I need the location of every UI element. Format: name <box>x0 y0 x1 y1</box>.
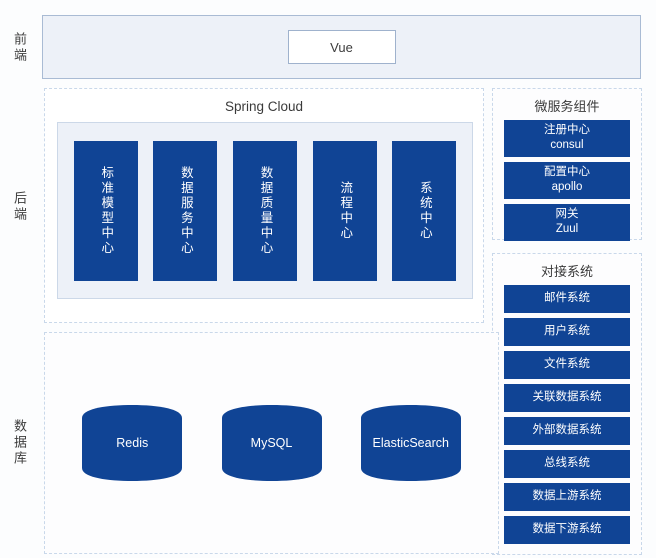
integration-chip-bus-label: 总线系统 <box>544 457 590 469</box>
microservice-components-panel: 微服务组件 注册中心 consul 配置中心 apollo 网关 Zuul <box>492 88 642 240</box>
integration-chip-upstream-label: 数据上游系统 <box>533 490 602 502</box>
integration-chip-file[interactable]: 文件系统 <box>504 351 630 379</box>
database-cylinder-elasticsearch[interactable]: ElasticSearch <box>359 404 463 482</box>
service-center-box[interactable]: 系统中心 <box>392 141 456 281</box>
microservice-chip-config-sub: apollo <box>504 180 630 195</box>
microservice-chip-gateway-sub: Zuul <box>504 222 630 237</box>
integration-chip-user-label: 用户系统 <box>544 325 590 337</box>
service-center-box[interactable]: 标准模型中心 <box>74 141 138 281</box>
service-center-label: 系统中心 <box>418 181 431 241</box>
microservice-chip-config[interactable]: 配置中心 apollo <box>504 162 630 199</box>
row-label-backend-text: 后端 <box>9 191 29 223</box>
microservice-chip-gateway-label: 网关 <box>556 208 579 220</box>
integration-chip-related-data-label: 关联数据系统 <box>533 391 602 403</box>
service-center-label: 数据服务中心 <box>179 166 192 256</box>
architecture-diagram: 前端 后端 数据库 Vue Spring Cloud 标准模型中心 数据服务中心… <box>0 0 656 558</box>
cylinder-shape-icon <box>359 404 463 482</box>
row-label-database: 数据库 <box>0 330 38 555</box>
microservice-components-title: 微服务组件 <box>493 89 641 120</box>
microservice-chip-gateway[interactable]: 网关 Zuul <box>504 204 630 241</box>
database-cylinder-mysql[interactable]: MySQL <box>220 404 324 482</box>
frontend-layer-panel: Vue <box>42 15 641 79</box>
spring-cloud-inner-panel: 标准模型中心 数据服务中心 数据质量中心 流程中心 系统中心 <box>57 122 473 299</box>
service-center-label: 流程中心 <box>338 181 351 241</box>
row-label-database-text: 数据库 <box>9 419 29 467</box>
row-label-frontend-text: 前端 <box>9 32 29 64</box>
cylinder-shape-icon <box>220 404 324 482</box>
row-label-frontend: 前端 <box>0 14 38 82</box>
integration-chip-upstream[interactable]: 数据上游系统 <box>504 483 630 511</box>
service-center-label: 数据质量中心 <box>258 166 271 256</box>
cylinder-shape-icon <box>80 404 184 482</box>
microservice-chip-registry-label: 注册中心 <box>544 124 590 136</box>
database-layer-panel: Redis MySQL ElasticSearch <box>44 332 499 554</box>
integration-chip-mail-label: 邮件系统 <box>544 292 590 304</box>
microservice-chip-config-label: 配置中心 <box>544 166 590 178</box>
database-cylinder-redis[interactable]: Redis <box>80 404 184 482</box>
integration-chip-related-data[interactable]: 关联数据系统 <box>504 384 630 412</box>
microservice-components-list: 注册中心 consul 配置中心 apollo 网关 Zuul <box>493 120 641 241</box>
service-center-box[interactable]: 数据服务中心 <box>153 141 217 281</box>
database-row: Redis MySQL ElasticSearch <box>45 333 498 553</box>
integration-chip-downstream-label: 数据下游系统 <box>533 523 602 535</box>
integration-chip-mail[interactable]: 邮件系统 <box>504 285 630 313</box>
integration-systems-title: 对接系统 <box>493 254 641 285</box>
service-center-box[interactable]: 数据质量中心 <box>233 141 297 281</box>
service-center-row: 标准模型中心 数据服务中心 数据质量中心 流程中心 系统中心 <box>58 123 472 298</box>
vue-label: Vue <box>330 40 353 55</box>
row-label-backend: 后端 <box>0 88 38 326</box>
integration-systems-panel: 对接系统 邮件系统 用户系统 文件系统 关联数据系统 外部数据系统 总线系统 数… <box>492 253 642 555</box>
integration-chip-user[interactable]: 用户系统 <box>504 318 630 346</box>
integration-systems-list: 邮件系统 用户系统 文件系统 关联数据系统 外部数据系统 总线系统 数据上游系统… <box>493 285 641 544</box>
microservice-chip-registry[interactable]: 注册中心 consul <box>504 120 630 157</box>
integration-chip-bus[interactable]: 总线系统 <box>504 450 630 478</box>
integration-chip-external-data-label: 外部数据系统 <box>533 424 602 436</box>
microservice-chip-registry-sub: consul <box>504 138 630 153</box>
integration-chip-downstream[interactable]: 数据下游系统 <box>504 516 630 544</box>
vue-component-box[interactable]: Vue <box>288 30 396 64</box>
spring-cloud-panel: Spring Cloud 标准模型中心 数据服务中心 数据质量中心 流程中心 系… <box>44 88 484 323</box>
service-center-box[interactable]: 流程中心 <box>313 141 377 281</box>
integration-chip-file-label: 文件系统 <box>544 358 590 370</box>
service-center-label: 标准模型中心 <box>99 166 112 256</box>
integration-chip-external-data[interactable]: 外部数据系统 <box>504 417 630 445</box>
spring-cloud-title: Spring Cloud <box>45 99 483 114</box>
